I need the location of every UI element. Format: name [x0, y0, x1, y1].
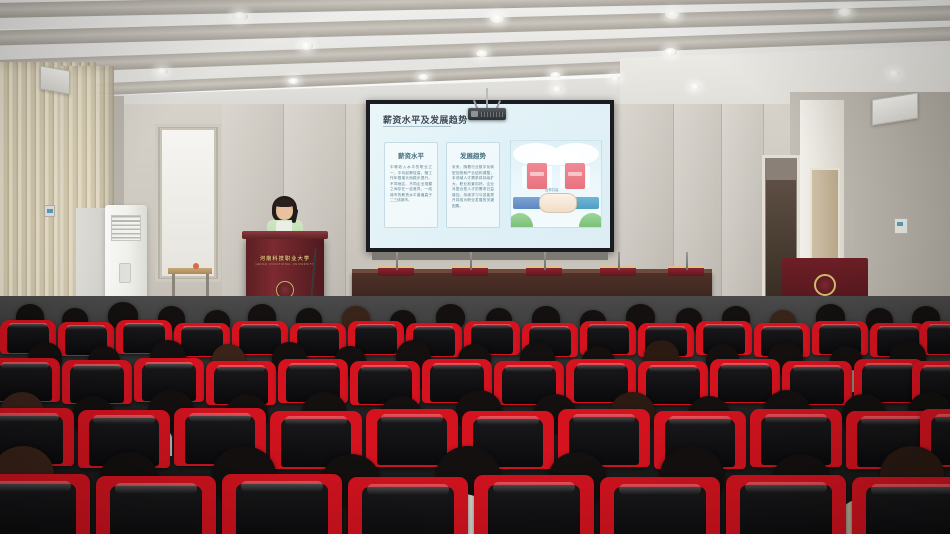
downlight: [888, 70, 900, 77]
presenter-fringe: [275, 199, 294, 207]
handshake-icon: [539, 193, 577, 213]
left-open-door[interactable]: [160, 128, 216, 278]
book-figure-left: [527, 163, 547, 189]
slide-column-trend: 发展趋势 未来，随着行业数字化转型加快和产业结构调整，本领域人才需求将持续扩大，…: [446, 142, 500, 228]
presentation-slide: 薪资水平及发展趋势 薪资水平 中等收入水平的职业之一，平均起薪较高，随工作年限增…: [370, 104, 610, 248]
audience-area: [0, 296, 950, 534]
table-microphone: [396, 252, 398, 270]
book-face: [568, 172, 582, 176]
sparkle-icon: [568, 155, 571, 158]
downlight: [288, 78, 299, 84]
slide-column-salary: 薪资水平 中等收入水平的职业之一，平均起薪较高，随工作年限增长而稳步提升。不同地…: [384, 142, 438, 228]
grass-shape: [510, 213, 533, 227]
wall-speaker: [40, 65, 70, 94]
presenter-face: [277, 205, 292, 219]
slide-column-a-body: 中等收入水平的职业之一，平均起薪较高，随工作年限增长而稳步提升。不同地区、不同企…: [390, 165, 432, 204]
slide-column-b-heading: 发展趋势: [447, 150, 499, 160]
desk-object: [193, 263, 199, 269]
projector-lens-icon: [471, 111, 478, 117]
wall-control-panel: [894, 218, 908, 234]
downlight: [550, 72, 561, 78]
wall-panel-seam: [722, 104, 764, 318]
downlight: [476, 50, 488, 57]
projector-vents: [481, 112, 503, 117]
auditorium-seat[interactable]: [852, 477, 950, 534]
auditorium-seat[interactable]: [96, 476, 216, 534]
auditorium-seat[interactable]: [600, 477, 720, 534]
downlight: [838, 8, 852, 16]
desk-leg: [172, 274, 175, 296]
sparkle-icon: [539, 155, 542, 158]
table-microphone: [686, 252, 688, 270]
auditorium-seat[interactable]: [474, 475, 594, 534]
downlight: [232, 12, 248, 21]
table-microphone: [618, 252, 620, 270]
wall-control-panel: [44, 205, 55, 217]
downlight: [490, 14, 505, 23]
book-figure-right: [565, 163, 585, 189]
lectern-institution-text: 河南科技职业大学: [246, 255, 324, 262]
sleeve-left: [513, 197, 541, 209]
downlight: [300, 42, 313, 50]
auditorium-seat[interactable]: [0, 474, 90, 534]
book-face: [530, 172, 544, 176]
downlight: [552, 86, 562, 92]
slide-title-underline: [383, 126, 451, 127]
table-microphone: [544, 252, 546, 270]
table-microphone: [470, 252, 472, 270]
sparkle-icon: [531, 158, 534, 161]
downlight: [665, 10, 680, 19]
auditorium-seat[interactable]: [222, 474, 342, 534]
downlight: [156, 68, 168, 75]
projection-screen: 薪资水平及发展趋势 薪资水平 中等收入水平的职业之一，平均起薪较高，随工作年限增…: [366, 100, 614, 252]
auditorium-seat[interactable]: [348, 477, 468, 534]
slide-title: 薪资水平及发展趋势: [383, 113, 468, 126]
lectern-top: [242, 231, 328, 239]
sparkle-icon: [576, 158, 579, 161]
downlight: [690, 84, 700, 90]
downlight: [664, 48, 677, 56]
lecture-hall-photo: 薪资水平及发展趋势 薪资水平 中等收入水平的职业之一，平均起薪较高，随工作年限增…: [0, 0, 950, 534]
slide-illustration: 合作共赢: [510, 140, 602, 228]
ac-control-panel[interactable]: [119, 263, 131, 283]
slide-column-a-heading: 薪资水平: [385, 150, 437, 160]
grass-shape: [579, 213, 602, 227]
illustration-label: 合作共赢: [545, 187, 559, 192]
desk-leg: [206, 274, 209, 296]
institution-emblem-icon: [814, 274, 836, 296]
auditorium-seat[interactable]: [726, 475, 846, 534]
downlight: [610, 75, 620, 81]
ac-vent-grill: [111, 215, 141, 241]
projector: [468, 108, 506, 120]
downlight: [418, 74, 429, 80]
slide-column-b-body: 未来，随着行业数字化转型加快和产业结构调整，本领域人才需求将持续扩大，职业前景向…: [452, 165, 494, 210]
